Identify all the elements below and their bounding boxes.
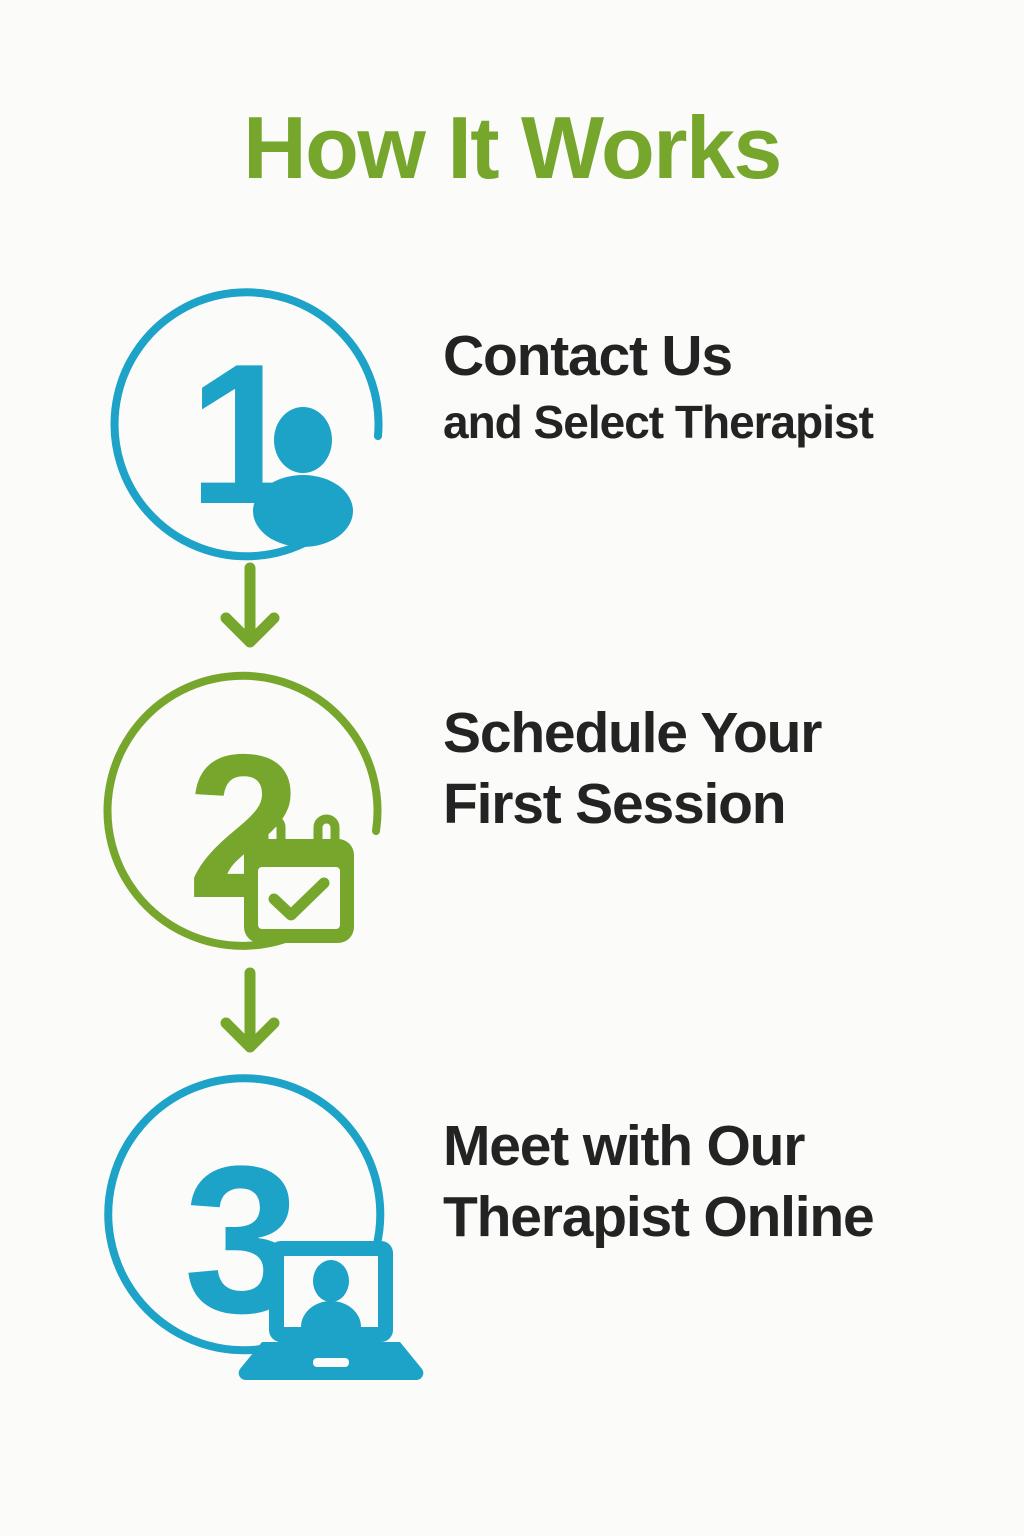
step-3-line-1: Meet with Our [443, 1118, 874, 1175]
step-2-badge: 2 [110, 655, 395, 955]
step-1-line-2: and Select Therapist [443, 399, 873, 445]
step-1-badge: 1 [110, 268, 395, 568]
step-2: 2 Schedule Your First Session [0, 655, 1024, 955]
arrow-down-icon [226, 568, 274, 642]
how-it-works-infographic: How It Works 1 Contact Us and Select The… [0, 0, 1024, 1536]
arrow-down-icon [226, 973, 274, 1047]
step-1-text: Contact Us and Select Therapist [443, 328, 873, 445]
connector-arrow-2 [205, 965, 295, 1061]
step-2-line-2: First Session [443, 776, 821, 833]
step-2-line-1: Schedule Your [443, 705, 821, 762]
step-3-badge: 3 [110, 1062, 395, 1362]
step-3-text: Meet with Our Therapist Online [443, 1118, 874, 1246]
step-3: 3 Meet with Our [0, 1062, 1024, 1362]
connector-arrow-1 [205, 560, 295, 656]
step-2-text: Schedule Your First Session [443, 705, 821, 833]
step-1: 1 Contact Us and Select Therapist [0, 268, 1024, 568]
page-title: How It Works [0, 104, 1024, 192]
step-3-line-2: Therapist Online [443, 1189, 874, 1246]
step-1-line-1: Contact Us [443, 328, 873, 385]
